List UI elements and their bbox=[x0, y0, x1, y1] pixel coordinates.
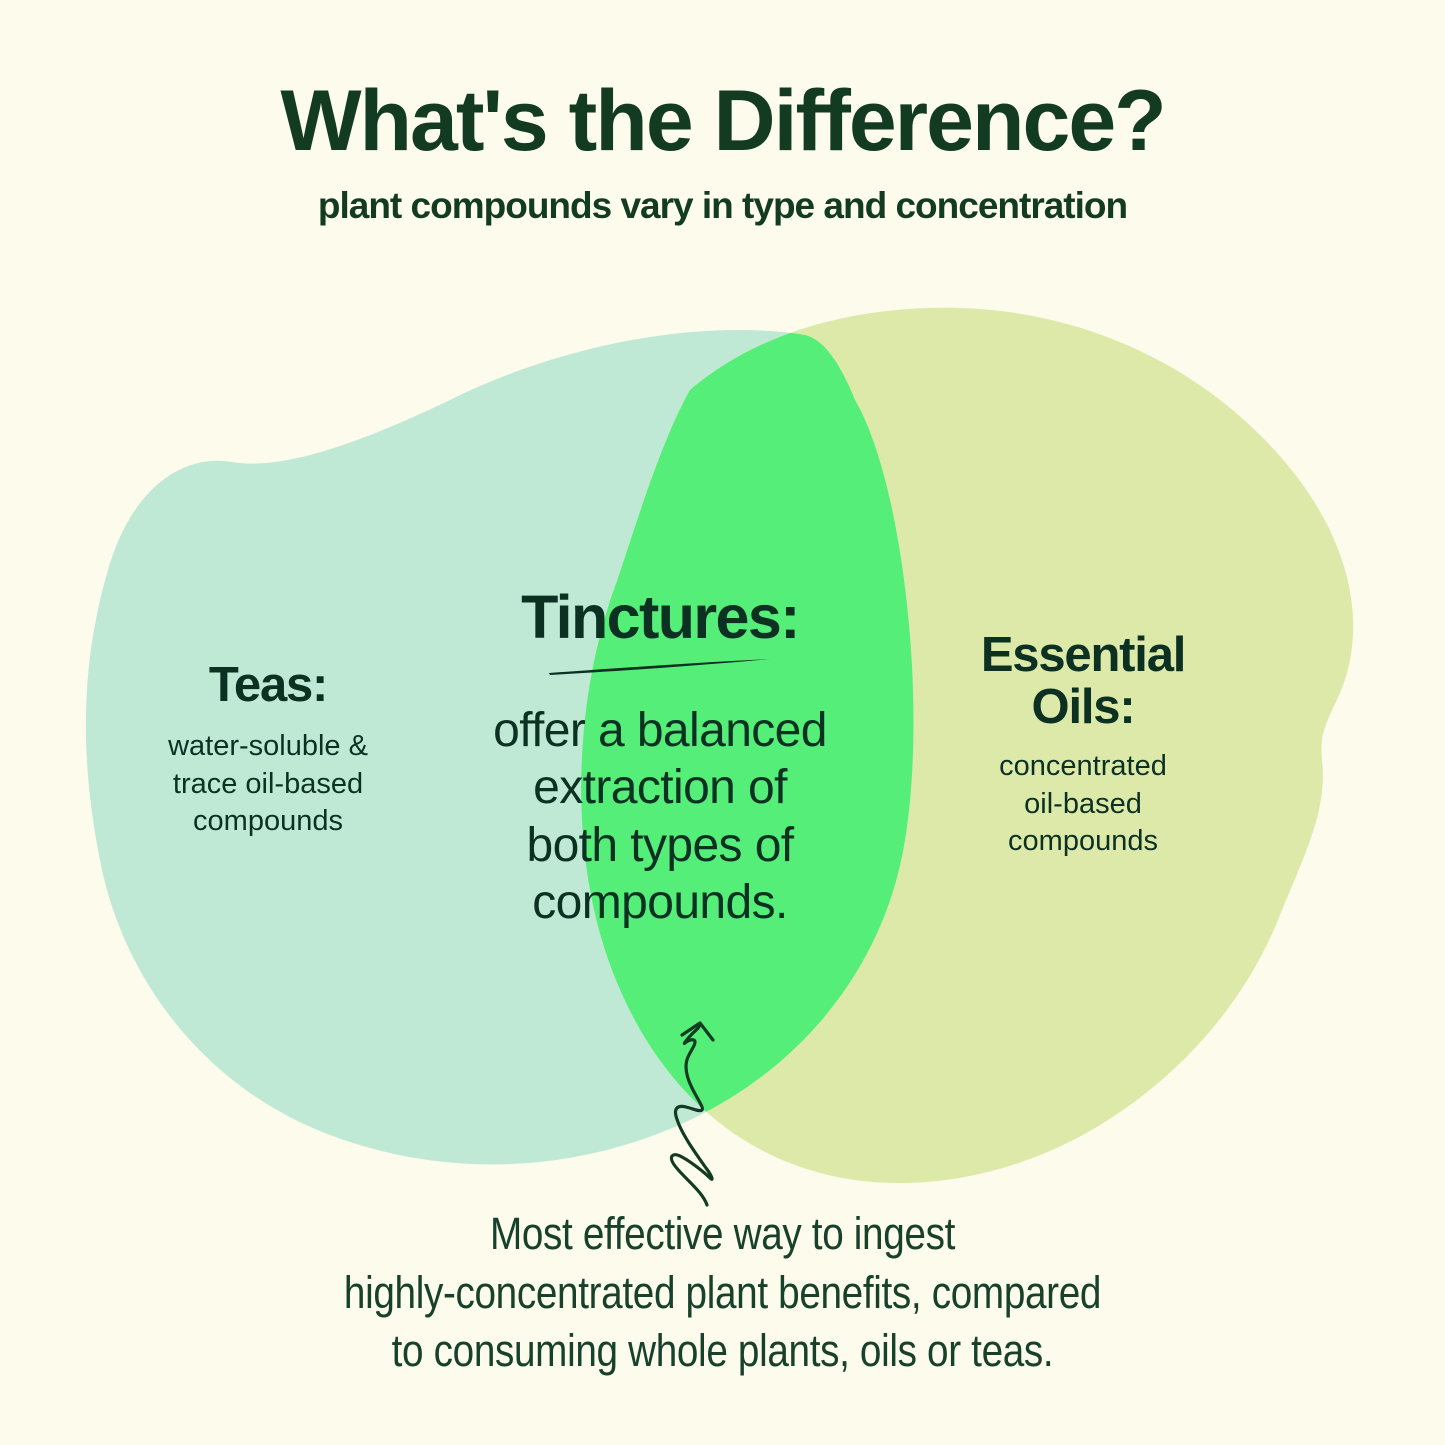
bottom-caption: Most effective way to ingest highly-conc… bbox=[101, 1205, 1344, 1381]
venn-label-essential-oils: Essential Oils: concentrated oil-based c… bbox=[928, 630, 1238, 861]
caption-line-2: highly-concentrated plant benefits, comp… bbox=[101, 1264, 1344, 1323]
tinctures-description-line-4: compounds. bbox=[532, 876, 788, 929]
teas-description-line-1: water-soluble & bbox=[168, 730, 368, 762]
hand-drawn-underline-icon bbox=[443, 656, 877, 680]
venn-label-tinctures: Tinctures: offer a balanced extraction o… bbox=[443, 585, 877, 932]
essential-oils-description-line-2: oil-based bbox=[1024, 788, 1142, 820]
page-title: What's the Difference? bbox=[0, 0, 1445, 164]
teas-description-line-2: trace oil-based bbox=[173, 768, 363, 800]
tinctures-description-line-2: extraction of bbox=[533, 761, 787, 814]
tinctures-heading: Tinctures: bbox=[443, 585, 877, 650]
essential-oils-description-line-1: concentrated bbox=[999, 750, 1167, 782]
tinctures-description-line-1: offer a balanced bbox=[493, 704, 827, 757]
infographic-canvas: What's the Difference? plant compounds v… bbox=[0, 0, 1445, 1445]
venn-label-teas: Teas: water-soluble & trace oil-based co… bbox=[118, 660, 418, 841]
header: What's the Difference? plant compounds v… bbox=[0, 0, 1445, 227]
tinctures-description: offer a balanced extraction of both type… bbox=[443, 680, 877, 932]
essential-oils-description: concentrated oil-based compounds bbox=[928, 734, 1238, 861]
tinctures-description-line-3: both types of bbox=[526, 819, 793, 872]
squiggly-arrow-up-icon bbox=[640, 1000, 770, 1230]
essential-oils-heading-line-1: Essential bbox=[981, 628, 1185, 682]
essential-oils-description-line-3: compounds bbox=[1008, 825, 1158, 857]
teas-description: water-soluble & trace oil-based compound… bbox=[118, 712, 418, 841]
teas-heading: Teas: bbox=[118, 660, 418, 712]
essential-oils-heading: Essential Oils: bbox=[928, 630, 1238, 734]
teas-description-line-3: compounds bbox=[193, 805, 343, 837]
page-subtitle: plant compounds vary in type and concent… bbox=[0, 164, 1445, 227]
caption-line-3: to consuming whole plants, oils or teas. bbox=[101, 1322, 1344, 1381]
essential-oils-heading-line-2: Oils: bbox=[1032, 680, 1135, 734]
